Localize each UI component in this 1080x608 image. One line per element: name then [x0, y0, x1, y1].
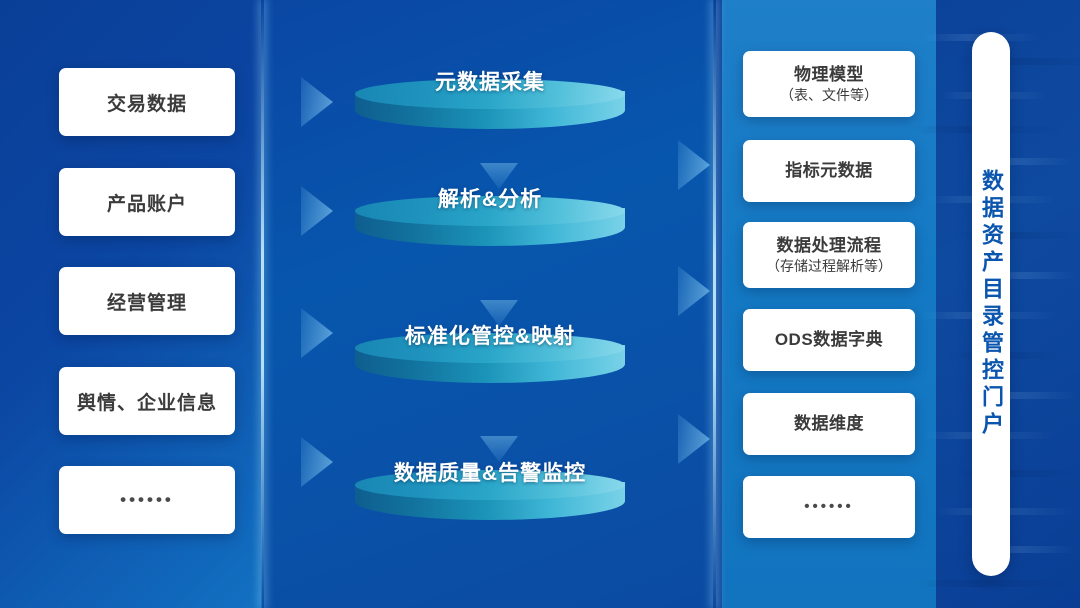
pipeline-column: 元数据采集 解析&分析 标准化管控&映射 数据质量&告警监控 [262, 0, 714, 608]
output-card-1[interactable]: 指标元数据 [743, 140, 915, 202]
metadata-outputs-column: 物理模型 （表、文件等） 指标元数据 数据处理流程 （存储过程解析等） ODS数… [743, 0, 915, 608]
pipeline-stage-3-label: 数据质量&告警监控 [355, 457, 625, 487]
output-card-2-subtitle: （存储过程解析等） [766, 257, 892, 275]
pipeline-stage-0-label: 元数据采集 [355, 66, 625, 96]
source-card-3-label: 舆情、企业信息 [77, 388, 217, 415]
output-card-more[interactable]: •••••• [743, 476, 915, 538]
output-card-0-subtitle: （表、文件等） [780, 86, 878, 104]
source-card-more[interactable]: •••••• [59, 466, 235, 534]
pipeline-stage-2-label: 标准化管控&映射 [355, 320, 625, 350]
output-card-4[interactable]: 数据维度 [743, 393, 915, 455]
output-card-more-title: •••••• [804, 498, 854, 517]
output-card-3[interactable]: ODS数据字典 [743, 309, 915, 371]
output-card-4-title: 数据维度 [794, 413, 864, 434]
portal-bar[interactable]: 数据资产目录管控门户 [972, 32, 1010, 576]
pipeline-stage-1-label: 解析&分析 [355, 183, 625, 213]
source-card-0-label: 交易数据 [107, 89, 187, 116]
output-card-1-title: 指标元数据 [785, 160, 873, 181]
source-card-3[interactable]: 舆情、企业信息 [59, 367, 235, 435]
output-card-2[interactable]: 数据处理流程 （存储过程解析等） [743, 222, 915, 288]
diagram-canvas: 交易数据 产品账户 经营管理 舆情、企业信息 •••••• 元数据采集 解析&分… [0, 0, 1080, 608]
portal-bar-label: 数据资产目录管控门户 [980, 169, 1002, 439]
output-card-3-title: ODS数据字典 [775, 329, 883, 350]
source-card-0[interactable]: 交易数据 [59, 68, 235, 136]
output-card-0-title: 物理模型 [794, 64, 864, 85]
source-card-2[interactable]: 经营管理 [59, 267, 235, 335]
source-card-1-label: 产品账户 [107, 189, 187, 216]
data-sources-column: 交易数据 产品账户 经营管理 舆情、企业信息 •••••• [59, 0, 235, 608]
output-card-2-title: 数据处理流程 [777, 235, 882, 256]
source-card-2-label: 经营管理 [107, 288, 187, 315]
source-card-1[interactable]: 产品账户 [59, 168, 235, 236]
output-card-0[interactable]: 物理模型 （表、文件等） [743, 51, 915, 117]
source-card-more-label: •••••• [120, 490, 174, 510]
